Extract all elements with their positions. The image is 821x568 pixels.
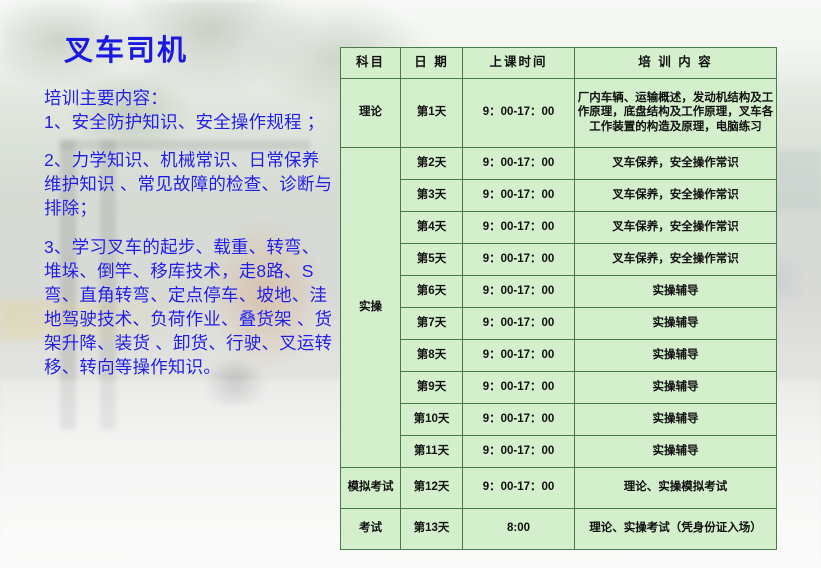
table-header-row: 科目 日 期 上课时间 培 训 内 容: [341, 48, 777, 79]
cell-date: 第6天: [401, 275, 463, 307]
cell-subject: 模拟考试: [341, 467, 401, 508]
table-row: 实操第2天9：00-17：00叉车保养，安全操作常识: [341, 147, 777, 179]
cell-subject: 理论: [341, 78, 401, 147]
table-row: 第3天9：00-17：00叉车保养，安全操作常识: [341, 179, 777, 211]
cell-time: 9：00-17：00: [463, 147, 575, 179]
cell-time: 9：00-17：00: [463, 339, 575, 371]
cell-date: 第13天: [401, 508, 463, 549]
cell-content: 理论、实操模拟考试: [575, 467, 777, 508]
table-head: 科目 日 期 上课时间 培 训 内 容: [341, 48, 777, 79]
cell-content: 叉车保养，安全操作常识: [575, 243, 777, 275]
cell-content: 实操辅导: [575, 435, 777, 467]
cell-subject: 实操: [341, 147, 401, 467]
cell-date: 第1天: [401, 78, 463, 147]
cell-time: 8:00: [463, 508, 575, 549]
cell-time: 9：00-17：00: [463, 275, 575, 307]
cell-subject: 考试: [341, 508, 401, 549]
cell-content: 实操辅导: [575, 275, 777, 307]
slide-canvas: 叉车司机 培训主要内容：1、安全防护知识、安全操作规程 ； 2、力学知识、机械常…: [0, 0, 821, 568]
cell-time: 9：00-17：00: [463, 307, 575, 339]
table-row: 第8天9：00-17：00实操辅导: [341, 339, 777, 371]
cell-content: 实操辅导: [575, 307, 777, 339]
body-paragraph-1: 培训主要内容：1、安全防护知识、安全操作规程 ；: [44, 86, 334, 134]
left-text-column: 叉车司机 培训主要内容：1、安全防护知识、安全操作规程 ； 2、力学知识、机械常…: [44, 36, 334, 393]
training-schedule-table: 科目 日 期 上课时间 培 训 内 容 理论第1天9：00-17：00厂内车辆、…: [340, 47, 777, 550]
table-row: 第5天9：00-17：00叉车保养，安全操作常识: [341, 243, 777, 275]
cell-content: 实操辅导: [575, 403, 777, 435]
cell-time: 9：00-17：00: [463, 403, 575, 435]
page-title: 叉车司机: [64, 36, 334, 68]
cell-time: 9：00-17：00: [463, 211, 575, 243]
cell-date: 第7天: [401, 307, 463, 339]
cell-date: 第12天: [401, 467, 463, 508]
cell-date: 第11天: [401, 435, 463, 467]
table-row: 第10天9：00-17：00实操辅导: [341, 403, 777, 435]
cell-content: 实操辅导: [575, 339, 777, 371]
cell-date: 第10天: [401, 403, 463, 435]
body-paragraph-3: 3、学习叉车的起步、载重、转弯、堆垛、倒竿、移库技术，走8路、S弯、直角转弯、定…: [44, 235, 334, 380]
cell-content: 厂内车辆、运输概述，发动机结构及工作原理，底盘结构及工作原理，叉车各工作装置的构…: [575, 78, 777, 147]
cell-content: 叉车保养，安全操作常识: [575, 211, 777, 243]
table-row: 第9天9：00-17：00实操辅导: [341, 371, 777, 403]
column-header-date: 日 期: [401, 48, 463, 79]
cell-content: 叉车保养，安全操作常识: [575, 147, 777, 179]
cell-time: 9：00-17：00: [463, 78, 575, 147]
cell-time: 9：00-17：00: [463, 371, 575, 403]
table-row: 考试第13天8:00理论、实操考试（凭身份证入场）: [341, 508, 777, 549]
cell-content-highlighted: 理论、实操考试（凭身份证入场）: [575, 508, 777, 549]
column-header-subject: 科目: [341, 48, 401, 79]
cell-date: 第9天: [401, 371, 463, 403]
column-header-content: 培 训 内 容: [575, 48, 777, 79]
cell-date: 第8天: [401, 339, 463, 371]
table-row: 模拟考试第12天9：00-17：00理论、实操模拟考试: [341, 467, 777, 508]
body-paragraph-2: 2、力学知识、机械常识、日常保养维护知识 、常见故障的检查、诊断与排除；: [44, 148, 334, 220]
table-row: 第4天9：00-17：00叉车保养，安全操作常识: [341, 211, 777, 243]
table-body: 理论第1天9：00-17：00厂内车辆、运输概述，发动机结构及工作原理，底盘结构…: [341, 78, 777, 549]
cell-date: 第2天: [401, 147, 463, 179]
table-row: 理论第1天9：00-17：00厂内车辆、运输概述，发动机结构及工作原理，底盘结构…: [341, 78, 777, 147]
cell-date: 第5天: [401, 243, 463, 275]
table-row: 第6天9：00-17：00实操辅导: [341, 275, 777, 307]
cell-time: 9：00-17：00: [463, 467, 575, 508]
cell-date: 第3天: [401, 179, 463, 211]
cell-time: 9：00-17：00: [463, 179, 575, 211]
column-header-time: 上课时间: [463, 48, 575, 79]
cell-content: 实操辅导: [575, 371, 777, 403]
table-row: 第11天9：00-17：00实操辅导: [341, 435, 777, 467]
table-row: 第7天9：00-17：00实操辅导: [341, 307, 777, 339]
cell-content: 叉车保养，安全操作常识: [575, 179, 777, 211]
cell-date: 第4天: [401, 211, 463, 243]
cell-time: 9：00-17：00: [463, 243, 575, 275]
cell-time: 9：00-17：00: [463, 435, 575, 467]
schedule-table-container: 科目 日 期 上课时间 培 训 内 容 理论第1天9：00-17：00厂内车辆、…: [340, 47, 776, 550]
